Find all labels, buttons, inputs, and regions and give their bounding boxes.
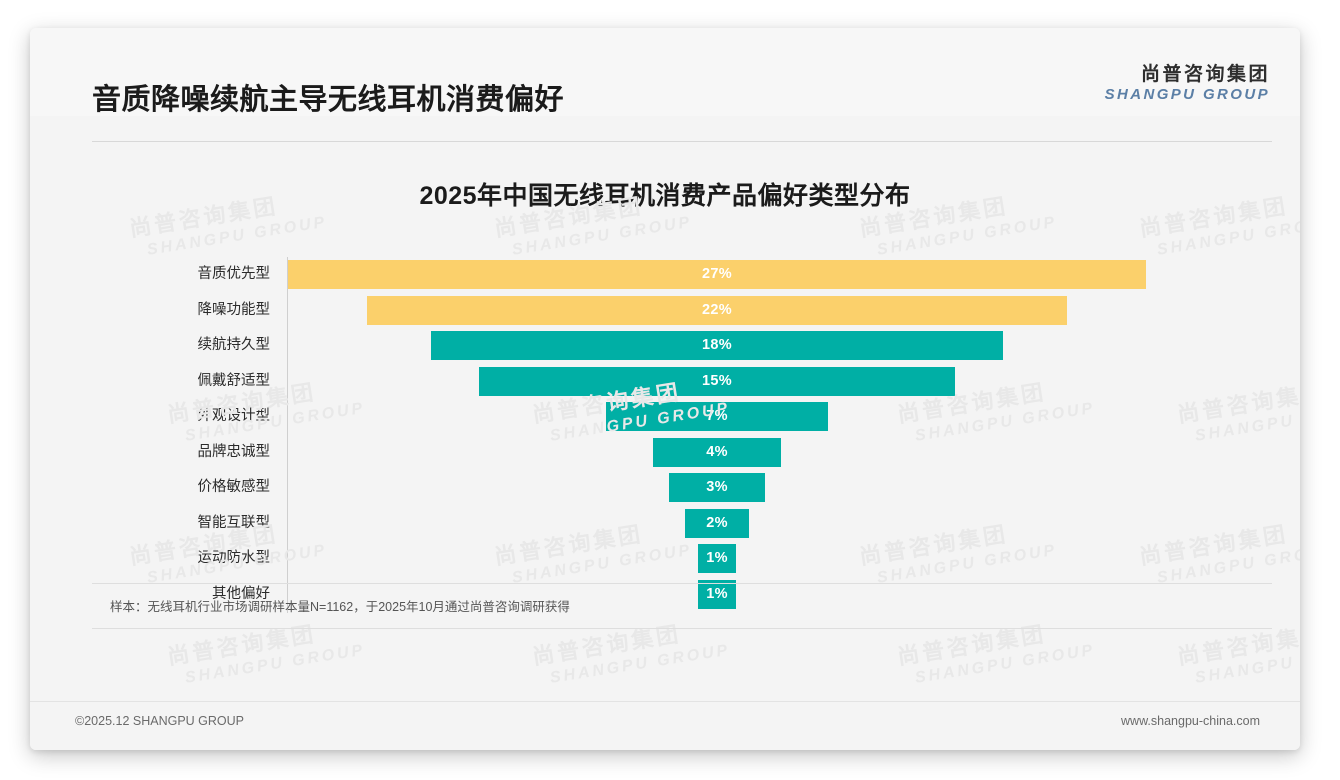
funnel-row: 品牌忠诚型4% — [30, 435, 1300, 471]
footnote-text: 样本：无线耳机行业市场调研样本量N=1162，于2025年10月通过尚普咨询调研… — [110, 596, 570, 615]
header-divider — [92, 141, 1272, 142]
bar-wrapper: 22% — [30, 293, 1300, 329]
footer-copyright: ©2025.12 SHANGPU GROUP — [75, 714, 244, 728]
funnel-bar[interactable]: 1% — [698, 544, 736, 573]
slide-header: 音质降噪续航主导无线耳机消费偏好 尚普咨询集团 SHANGPU GROUP — [30, 28, 1300, 116]
page-title: 音质降噪续航主导无线耳机消费偏好 — [92, 76, 564, 118]
brand-logo-english: SHANGPU GROUP — [1105, 86, 1270, 104]
bar-wrapper: 3% — [30, 470, 1300, 506]
funnel-row: 智能互联型2% — [30, 506, 1300, 542]
funnel-bar[interactable]: 27% — [288, 260, 1146, 289]
footer-website[interactable]: www.shangpu-china.com — [1121, 714, 1260, 728]
bar-wrapper: 1% — [30, 541, 1300, 577]
bar-wrapper: 18% — [30, 328, 1300, 364]
bar-wrapper: 15% — [30, 364, 1300, 400]
brand-logo-chinese: 尚普咨询集团 — [1105, 64, 1270, 86]
bar-wrapper: 2% — [30, 506, 1300, 542]
funnel-bar[interactable]: 7% — [606, 402, 828, 431]
chart-title: 2025年中国无线耳机消费产品偏好类型分布 — [30, 176, 1300, 212]
funnel-row: 外观设计型7% — [30, 399, 1300, 435]
slide-card: 音质降噪续航主导无线耳机消费偏好 尚普咨询集团 SHANGPU GROUP 尚普… — [30, 28, 1300, 750]
funnel-chart-plot: 音质优先型27%降噪功能型22%续航持久型18%佩戴舒适型15%外观设计型7%品… — [30, 230, 1300, 610]
funnel-row: 价格敏感型3% — [30, 470, 1300, 506]
funnel-bar[interactable]: 15% — [479, 367, 956, 396]
bar-wrapper: 7% — [30, 399, 1300, 435]
funnel-bar[interactable]: 22% — [367, 296, 1066, 325]
funnel-bar[interactable]: 2% — [685, 509, 749, 538]
funnel-row: 佩戴舒适型15% — [30, 364, 1300, 400]
slide-footer: ©2025.12 SHANGPU GROUP www.shangpu-china… — [30, 701, 1300, 750]
footnote-box: 样本：无线耳机行业市场调研样本量N=1162，于2025年10月通过尚普咨询调研… — [92, 583, 1272, 629]
bar-wrapper: 27% — [30, 257, 1300, 293]
funnel-row: 音质优先型27% — [30, 257, 1300, 293]
brand-logo: 尚普咨询集团 SHANGPU GROUP — [1105, 64, 1270, 104]
funnel-bar[interactable]: 18% — [431, 331, 1003, 360]
funnel-bar[interactable]: 4% — [653, 438, 780, 467]
funnel-bar[interactable]: 3% — [669, 473, 764, 502]
bar-wrapper: 4% — [30, 435, 1300, 471]
funnel-row: 续航持久型18% — [30, 328, 1300, 364]
funnel-row: 运动防水型1% — [30, 541, 1300, 577]
funnel-row: 降噪功能型22% — [30, 293, 1300, 329]
